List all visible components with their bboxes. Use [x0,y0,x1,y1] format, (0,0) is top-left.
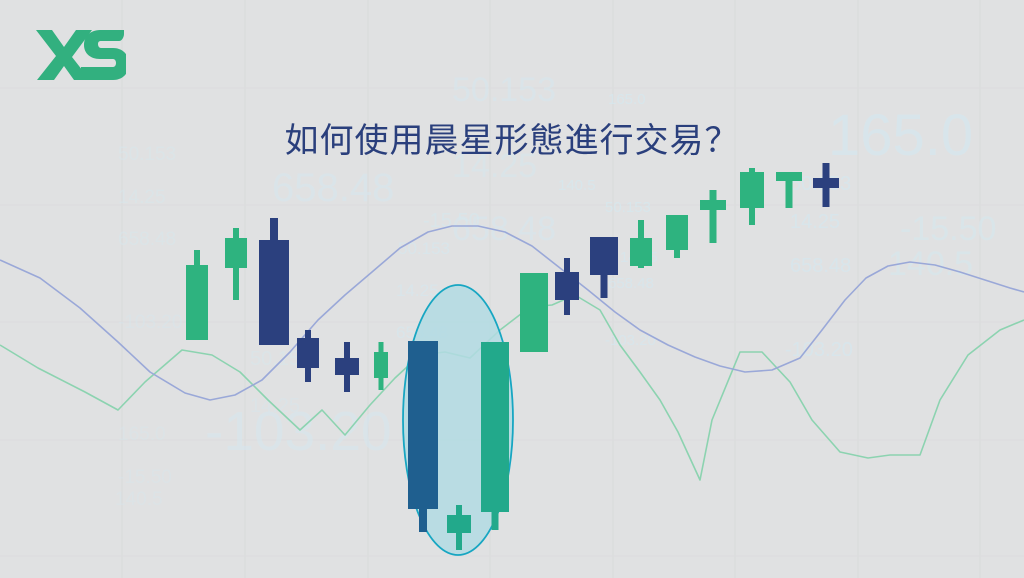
candle-body [481,342,509,512]
page-title: 如何使用晨星形態進行交易？ [0,119,1024,163]
candle-body [520,273,548,352]
candlestick [740,168,764,225]
candle-body [700,200,726,210]
candlestick-group [186,163,839,550]
candlestick [520,273,548,352]
candle-wick [710,190,717,243]
candle-body [335,358,359,375]
candle-body [408,341,438,509]
candlestick [813,163,839,207]
candle-body [813,178,839,188]
candlestick [225,228,247,300]
candle-body [740,172,764,208]
candle-body [259,240,289,345]
candlestick [481,342,509,530]
candlestick [374,342,388,390]
xs-logo[interactable] [34,24,126,80]
candle-body [225,238,247,268]
candle-body [374,352,388,378]
candle-body [447,515,471,533]
candle-body [776,172,802,181]
logo-letter-s [81,30,126,80]
candle-body [630,238,652,266]
candlestick-chart [0,0,1024,578]
candle-body [555,272,579,300]
candlestick [666,215,688,258]
candlestick [700,190,726,243]
candle-body [590,237,618,275]
candlestick [630,220,652,268]
candle-body [666,215,688,250]
xs-logo-mark [36,30,126,80]
candlestick [259,218,289,345]
candle-body [297,338,319,368]
candlestick [186,250,208,340]
candlestick [776,172,802,208]
candlestick [590,237,618,298]
candlestick [297,330,319,382]
line-series-blue-smooth-curve [0,226,1024,400]
promo-banner: 50.15314.25658.48-103.20165.0-15.50140.5… [0,0,1024,578]
candle-body [186,265,208,340]
candlestick [335,342,359,392]
candlestick [408,341,438,532]
